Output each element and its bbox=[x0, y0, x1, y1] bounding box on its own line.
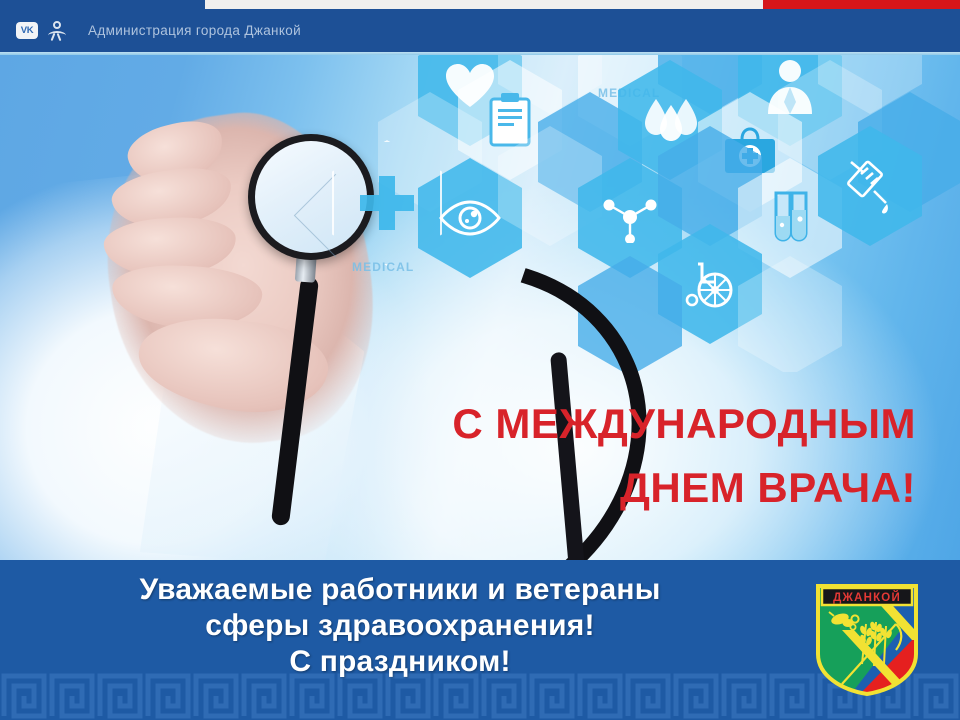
flag-strip-white bbox=[205, 0, 763, 9]
banner-message: Уважаемые работники и ветераны сферы здр… bbox=[0, 572, 800, 680]
greeting-line-1: С МЕЖДУНАРОДНЫМ bbox=[452, 400, 916, 448]
wheelchair-icon bbox=[682, 258, 738, 310]
flag-strip-blue bbox=[0, 0, 205, 9]
clipboard-icon bbox=[487, 92, 533, 148]
greeting-line-2: ДНЕМ ВРАЧА! bbox=[620, 464, 916, 512]
hex-label-medical-left: MEDICAL bbox=[352, 260, 414, 274]
header-bar: VK Администрация города Джанкой bbox=[0, 9, 960, 52]
bottom-banner: Уважаемые работники и ветераны сферы здр… bbox=[0, 560, 960, 720]
banner-line-2: сферы здравоохранения! bbox=[0, 608, 800, 644]
eye-icon bbox=[439, 200, 501, 236]
post-photo: MEDICAL bbox=[0, 52, 960, 560]
odnoklassniki-icon[interactable] bbox=[47, 21, 66, 40]
flag-strip bbox=[0, 0, 960, 9]
vk-icon-label: VK bbox=[21, 26, 34, 36]
coat-of-arms-title: ДЖАНКОЙ bbox=[833, 591, 901, 604]
flag-strip-red bbox=[763, 0, 960, 9]
test-tubes-icon bbox=[768, 190, 812, 246]
syringe-icon bbox=[843, 158, 897, 214]
molecule-icon bbox=[601, 193, 659, 243]
vk-icon[interactable]: VK bbox=[16, 22, 38, 39]
coat-of-arms-icon: ДЖАНКОЙ bbox=[812, 580, 922, 698]
banner-line-1: Уважаемые работники и ветераны bbox=[0, 572, 800, 608]
banner-line-3: С праздником! bbox=[0, 644, 800, 680]
vk-post-image: VK Администрация города Джанкой bbox=[0, 0, 960, 720]
medical-cross-icon bbox=[356, 172, 418, 234]
social-icons: VK bbox=[16, 21, 66, 40]
photo-top-edge bbox=[0, 52, 960, 55]
page-title: Администрация города Джанкой bbox=[88, 23, 301, 38]
dzhankoy-coat-of-arms: ДЖАНКОЙ bbox=[812, 580, 922, 698]
ok-icon-head bbox=[53, 21, 61, 29]
